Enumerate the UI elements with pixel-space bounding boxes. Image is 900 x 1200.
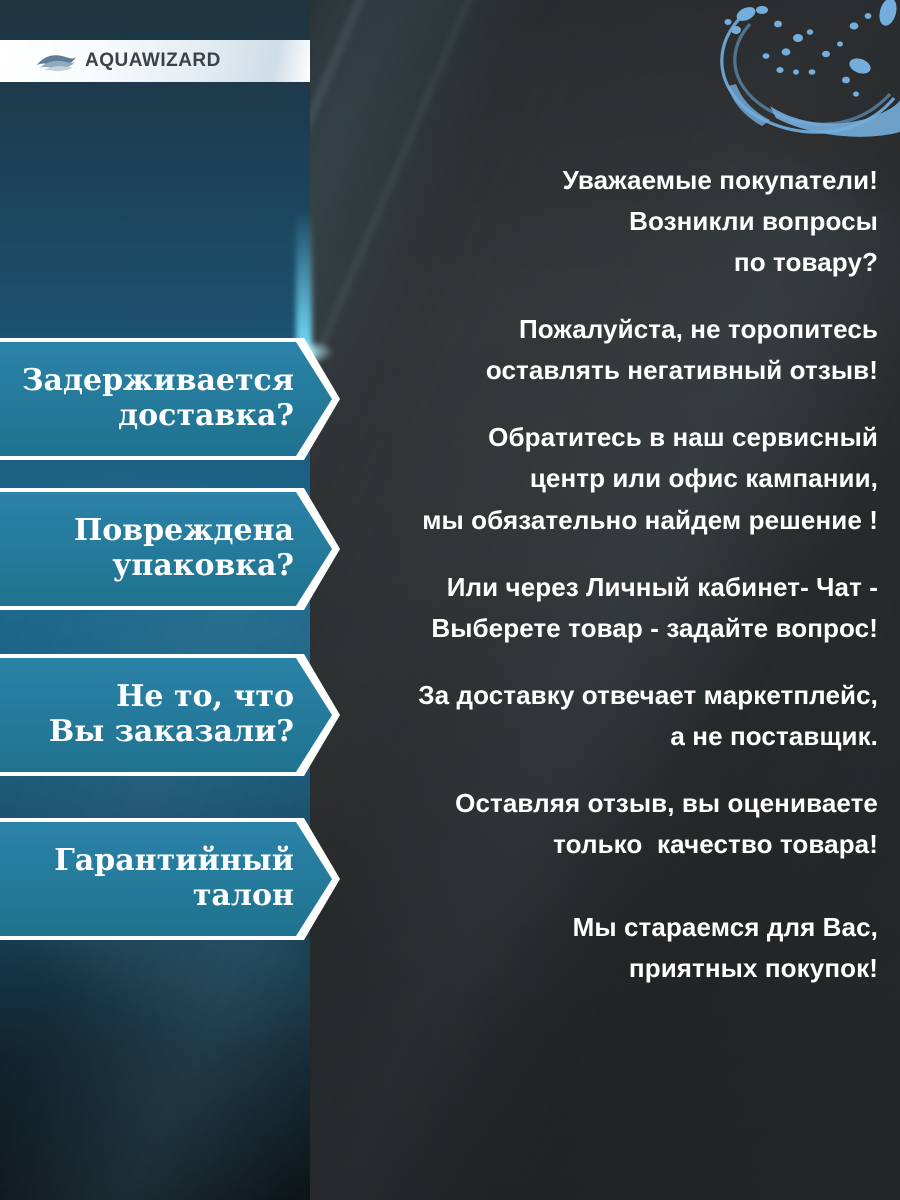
paragraph-delivery-responsibility: За доставку отвечает маркетплейс, а не п… xyxy=(318,675,878,757)
copy-line: Пожалуйста, не торопитесь xyxy=(318,309,878,350)
copy-line: За доставку отвечает маркетплейс, xyxy=(318,675,878,716)
copy-line: по товару? xyxy=(318,242,878,283)
banner-body: Гарантийный талон xyxy=(0,822,332,936)
paragraph-greeting: Уважаемые покупатели! Возникли вопросы п… xyxy=(318,160,878,283)
paragraph-chat-instructions: Или через Личный кабинет- Чат - Выберете… xyxy=(318,567,878,649)
copy-line: а не поставщик. xyxy=(318,716,878,757)
copy-line: Или через Личный кабинет- Чат - xyxy=(318,567,878,608)
brand-name: AQUAWIZARD xyxy=(85,50,221,72)
copy-line: мы обязательно найдем решение ! xyxy=(318,500,878,541)
banner-line: Гарантийный xyxy=(54,844,294,879)
copy-line: оставлять негативный отзыв! xyxy=(318,350,878,391)
banner-line: Задерживается xyxy=(22,364,294,399)
paragraph-closing: Мы стараемся для Вас, приятных покупок! xyxy=(318,907,878,989)
paragraph-review-quality: Оставляя отзыв, вы оцениваете только кач… xyxy=(318,783,878,865)
copy-line: Выберете товар - задайте вопрос! xyxy=(318,608,878,649)
promo-card: AQUAWIZARD xyxy=(0,0,900,1200)
copy-line: Оставляя отзыв, вы оцениваете xyxy=(318,783,878,824)
banner-line: талон xyxy=(193,879,294,914)
brand-logo-bar: AQUAWIZARD xyxy=(0,40,310,82)
banner-line: Вы заказали? xyxy=(49,715,294,750)
banner-delivery-delayed[interactable]: Задерживается доставка? xyxy=(0,338,340,460)
water-splash-graphic xyxy=(650,0,900,154)
banner-wrong-item[interactable]: Не то, что Вы заказали? xyxy=(0,654,340,776)
copy-line: Обратитесь в наш сервисный xyxy=(318,417,878,458)
wave-icon xyxy=(36,50,78,72)
banner-line: упаковка? xyxy=(112,549,294,584)
copy-line: только качество товара! xyxy=(318,824,878,865)
copy-line: Мы стараемся для Вас, xyxy=(318,907,878,948)
paragraph-no-negative-review: Пожалуйста, не торопитесь оставлять нега… xyxy=(318,309,878,391)
banner-line: Повреждена xyxy=(74,514,294,549)
banner-body: Повреждена упаковка? xyxy=(0,492,332,606)
copy-line: Уважаемые покупатели! xyxy=(318,160,878,201)
copy-line: центр или офис кампании, xyxy=(318,458,878,499)
banner-warranty-card[interactable]: Гарантийный талон xyxy=(0,818,340,940)
paragraph-contact-service: Обратитесь в наш сервисный центр или офи… xyxy=(318,417,878,540)
banner-body: Задерживается доставка? xyxy=(0,342,332,456)
message-copy: Уважаемые покупатели! Возникли вопросы п… xyxy=(318,160,878,989)
copy-line: приятных покупок! xyxy=(318,948,878,989)
banner-packaging-damaged[interactable]: Повреждена упаковка? xyxy=(0,488,340,610)
copy-line: Возникли вопросы xyxy=(318,201,878,242)
banner-line: Не то, что xyxy=(116,680,294,715)
banner-line: доставка? xyxy=(118,399,294,434)
banner-body: Не то, что Вы заказали? xyxy=(0,658,332,772)
